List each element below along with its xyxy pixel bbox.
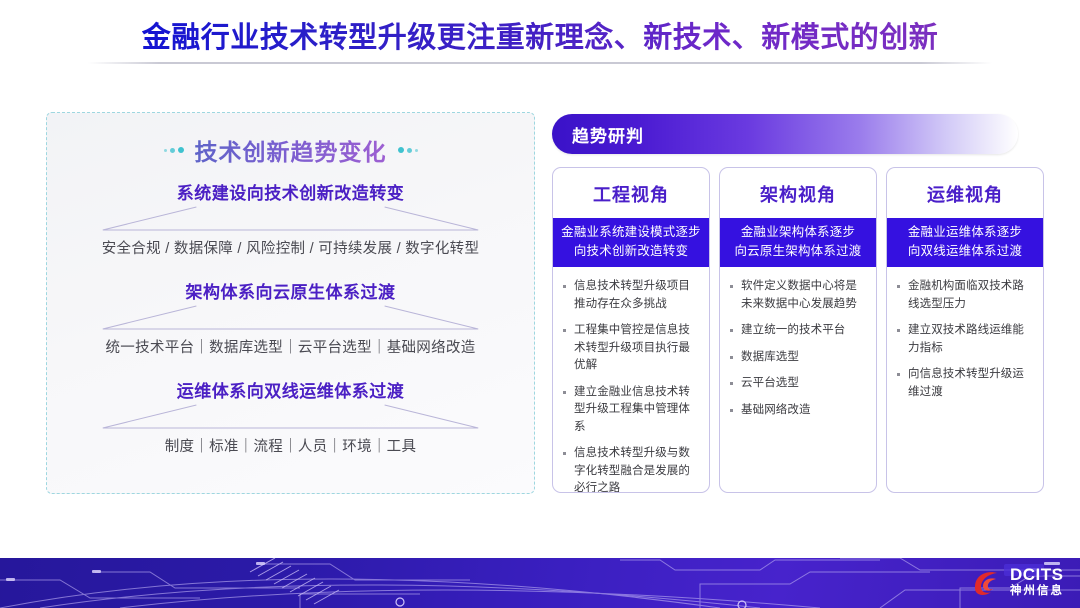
footer-banner: DCITS 神州信息 [0,558,1080,608]
tier-2: 架构体系向云原生体系过渡 统一技术平台｜数据库选型｜云平台选型｜基础网络改造 [47,278,534,357]
tier-1-items: 安全合规 / 数据保障 / 风险控制 / 可持续发展 / 数字化转型 [47,232,534,258]
card-title: 架构视角 [720,168,876,218]
slide-root: 金融行业技术转型升级更注重新理念、新技术、新模式的创新 技术创新趋势变化 系统建… [0,0,1080,608]
card-band-line1: 金融业系统建设模式逐步 [557,223,705,242]
title-divider [88,62,992,64]
card-band-line1: 金融业运维体系逐步 [891,223,1039,242]
tier-2-title: 架构体系向云原生体系过渡 [47,278,534,303]
list-item: 基础网络改造 [727,402,867,420]
perspective-card-engineering[interactable]: 工程视角 金融业系统建设模式逐步 向技术创新改造转变 信息技术转型升级项目推动存… [552,167,710,493]
tier-3-items: 制度｜标准｜流程｜人员｜环境｜工具 [47,430,534,456]
list-item: 软件定义数据中心将是未来数据中心发展趋势 [727,278,867,313]
tier-3: 运维体系向双线运维体系过渡 制度｜标准｜流程｜人员｜环境｜工具 [47,377,534,456]
brand-logo-en: DCITS [1010,566,1064,583]
card-band: 金融业运维体系逐步 向双线运维体系过渡 [887,218,1043,267]
list-item: 信息技术转型升级与数字化转型融合是发展的必行之路 [560,445,700,493]
perspective-card-list: 工程视角 金融业系统建设模式逐步 向技术创新改造转变 信息技术转型升级项目推动存… [552,167,1044,493]
card-bullet-list: 信息技术转型升级项目推动存在众多挑战 工程集中管控是信息技术转型升级项目执行最优… [553,267,709,493]
dots-left-icon [164,147,184,153]
card-title: 运维视角 [887,168,1043,218]
tier-1: 系统建设向技术创新改造转变 安全合规 / 数据保障 / 风险控制 / 可持续发展… [47,179,534,258]
trend-analysis-ribbon: 趋势研判 [552,114,1018,154]
list-item: 建立双技术路线运维能力指标 [894,322,1034,357]
card-band-line2: 向云原生架构体系过渡 [724,242,872,261]
brand-logo-cn: 神州信息 [1010,584,1064,598]
card-bullet-list: 软件定义数据中心将是未来数据中心发展趋势 建立统一的技术平台 数据库选型 云平台… [720,267,876,428]
tier-1-title: 系统建设向技术创新改造转变 [47,179,534,204]
card-band-line2: 向双线运维体系过渡 [891,242,1039,261]
list-item: 工程集中管控是信息技术转型升级项目执行最优解 [560,322,700,375]
card-title: 工程视角 [553,168,709,218]
list-item: 数据库选型 [727,349,867,367]
card-bullet-list: 金融机构面临双技术路线选型压力 建立双技术路线运维能力指标 向信息技术转型升级运… [887,267,1043,410]
tier-3-funnel-icon [47,404,534,430]
tier-3-title: 运维体系向双线运维体系过渡 [47,377,534,402]
list-item: 云平台选型 [727,375,867,393]
card-band-line1: 金融业架构体系逐步 [724,223,872,242]
tier-1-funnel-icon [47,206,534,232]
page-title-wrapper: 金融行业技术转型升级更注重新理念、新技术、新模式的创新 [0,14,1080,56]
perspective-card-operations[interactable]: 运维视角 金融业运维体系逐步 向双线运维体系过渡 金融机构面临双技术路线选型压力… [886,167,1044,493]
dots-right-icon [398,147,418,153]
list-item: 建立金融业信息技术转型升级工程集中管理体系 [560,384,700,437]
card-band: 金融业系统建设模式逐步 向技术创新改造转变 [553,218,709,267]
trend-change-panel: 技术创新趋势变化 系统建设向技术创新改造转变 安全合规 / 数据保障 / 风险控… [46,112,535,494]
tier-2-funnel-icon [47,305,534,331]
brand-logo: DCITS 神州信息 [971,566,1064,598]
card-band: 金融业架构体系逐步 向云原生架构体系过渡 [720,218,876,267]
list-item: 信息技术转型升级项目推动存在众多挑战 [560,278,700,313]
card-band-line2: 向技术创新改造转变 [557,242,705,261]
perspective-card-architecture[interactable]: 架构视角 金融业架构体系逐步 向云原生架构体系过渡 软件定义数据中心将是未来数据… [719,167,877,493]
list-item: 建立统一的技术平台 [727,322,867,340]
brand-logo-text: DCITS 神州信息 [1010,566,1064,598]
page-title: 金融行业技术转型升级更注重新理念、新技术、新模式的创新 [142,14,939,56]
circuit-decoration-icon [0,558,1080,608]
trend-analysis-ribbon-label: 趋势研判 [552,122,644,147]
trend-change-heading: 技术创新趋势变化 [195,133,387,167]
list-item: 向信息技术转型升级运维过渡 [894,366,1034,401]
trend-change-heading-row: 技术创新趋势变化 [47,133,534,167]
trend-analysis-panel: 趋势研判 工程视角 金融业系统建设模式逐步 向技术创新改造转变 信息技术转型升级… [552,114,1044,493]
dcits-swoosh-icon [971,567,1005,597]
list-item: 金融机构面临双技术路线选型压力 [894,278,1034,313]
tier-2-items: 统一技术平台｜数据库选型｜云平台选型｜基础网络改造 [47,331,534,357]
